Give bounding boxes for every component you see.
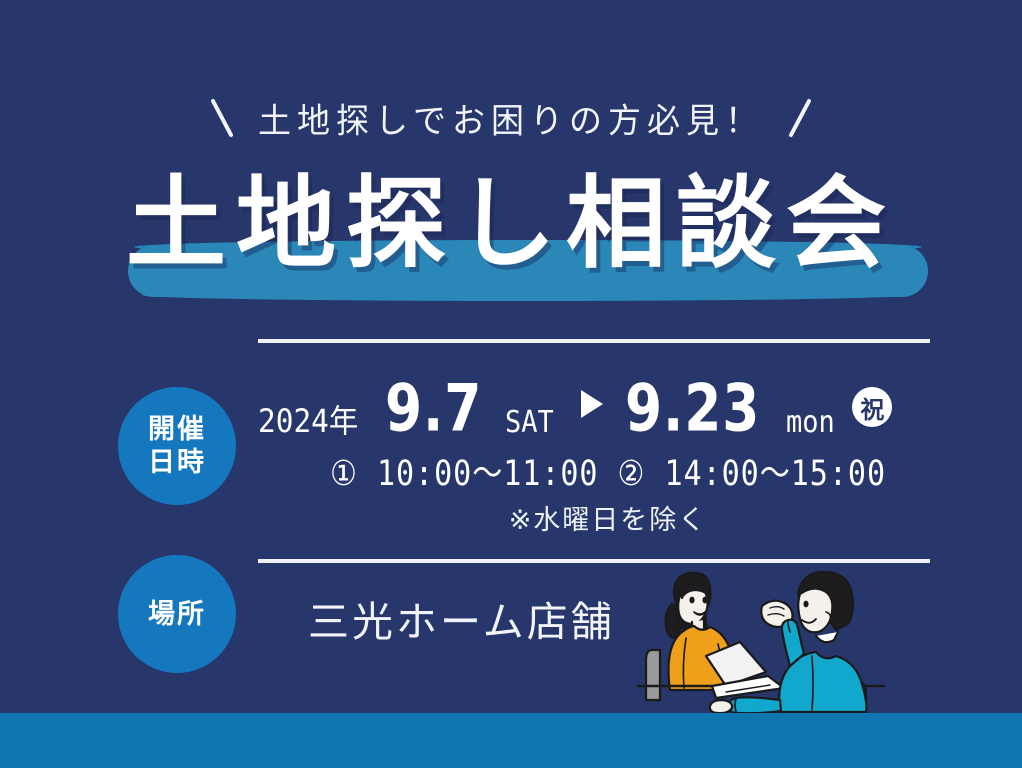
chair-left <box>646 650 660 700</box>
bottom-accent-bar <box>0 713 1022 768</box>
man-cuff <box>735 698 736 712</box>
badge-place-label: 場所 <box>148 598 206 631</box>
end-day-of-week: mon <box>786 405 835 440</box>
holiday-badge: 祝 <box>852 387 892 427</box>
tagline-row: 土地探しでお困りの方必見！ <box>0 88 1022 148</box>
page-title: 土地探し相談会 <box>0 160 1022 288</box>
start-day-of-week: SAT <box>505 405 554 440</box>
badge-datetime-line1: 開催 <box>148 413 206 446</box>
man-face <box>798 588 832 632</box>
slash-right-icon <box>786 96 812 140</box>
date-line: 2024年 9.7 SAT 9.23 mon 祝 <box>258 378 1018 436</box>
man-collar <box>816 632 838 642</box>
slash-left-icon <box>210 96 236 140</box>
man-eye <box>803 601 808 608</box>
event-poster: 土地探しでお困りの方必見！ 土地探し相談会 開催 日時 2024年 9.7 SA… <box>0 0 1022 768</box>
man-hand-keyboard <box>710 700 732 713</box>
start-date: 9.7 <box>385 370 482 446</box>
end-date: 9.23 <box>625 370 760 446</box>
divider-top <box>258 339 930 343</box>
badge-datetime: 開催 日時 <box>118 387 236 505</box>
date-year: 2024年 <box>258 396 358 442</box>
woman-eye-left <box>689 597 694 604</box>
arrow-right-triangle-icon <box>581 390 603 418</box>
badge-place: 場所 <box>118 555 236 673</box>
woman-eye-right <box>702 597 707 604</box>
badge-datetime-line2: 日時 <box>148 446 206 479</box>
time-slots: ① 10:00〜11:00 ② 14:00〜15:00 <box>279 446 937 496</box>
venue-name: 三光ホーム店舗 <box>308 588 615 648</box>
consultation-illustration <box>630 560 892 715</box>
headline-wrap: 土地探し相談会 <box>0 160 1022 310</box>
tagline-text: 土地探しでお困りの方必見！ <box>258 93 764 143</box>
schedule-note: ※水曜日を除く <box>258 498 958 537</box>
